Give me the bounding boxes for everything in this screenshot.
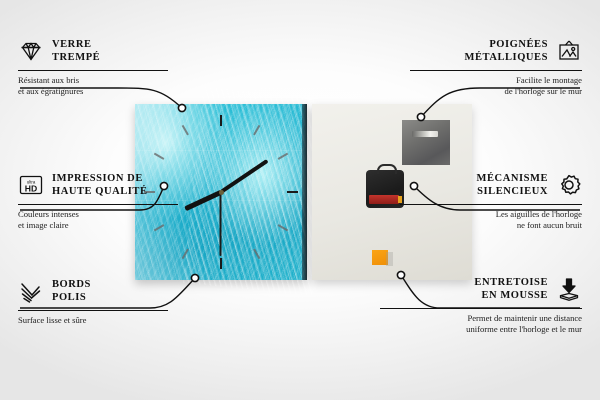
feature-header: ENTRETOISE EN MOUSSE <box>370 276 582 302</box>
feature-title: ENTRETOISE EN MOUSSE <box>474 276 548 302</box>
feature-title: BORDS POLIS <box>52 278 91 304</box>
hanging-frame-icon <box>556 38 582 64</box>
polished-edges-icon <box>18 278 44 304</box>
feature-title: MÉCANISME SILENCIEUX <box>477 172 548 198</box>
gear-icon <box>556 172 582 198</box>
feature-title: VERRE TREMPÉ <box>52 38 100 64</box>
feature-underline <box>18 204 178 205</box>
feature-description: Facilite le montage de l'horloge sur le … <box>400 75 582 97</box>
feature-mecanisme-silencieux: MÉCANISME SILENCIEUX Les aiguilles de l'… <box>390 172 582 231</box>
feature-header: VERRE TREMPÉ <box>18 38 178 64</box>
feature-title: POIGNÉES MÉTALLIQUES <box>465 38 548 64</box>
feature-description: Couleurs intenses et image claire <box>18 209 184 231</box>
feature-description: Résistant aux bris et aux égratignures <box>18 75 178 97</box>
hanger-slot <box>412 131 438 137</box>
feature-header: BORDS POLIS <box>18 278 178 304</box>
feature-header: MÉCANISME SILENCIEUX <box>390 172 582 198</box>
feature-underline <box>18 70 168 71</box>
feature-bords-polis: BORDS POLIS Surface lisse et sûre <box>18 278 178 326</box>
foam-spacer <box>372 250 388 265</box>
svg-text:HD: HD <box>25 183 37 193</box>
feature-description: Permet de maintenir une distance uniform… <box>370 313 582 335</box>
ultra-hd-icon: ultra HD <box>18 172 44 198</box>
glass-seam-top <box>135 150 302 151</box>
feature-title: IMPRESSION DE HAUTE QUALITÉ <box>52 172 148 198</box>
infographic-canvas: VERRE TREMPÉ Résistant aux bris et aux é… <box>0 0 600 400</box>
feature-header: ultra HD IMPRESSION DE HAUTE QUALITÉ <box>18 172 184 198</box>
metal-hanger-plate <box>402 120 450 165</box>
foam-spacer-arrow-icon <box>556 276 582 302</box>
feature-poignees-metalliques: POIGNÉES MÉTALLIQUES Facilite le montage… <box>400 38 582 97</box>
feature-description: Les aiguilles de l'horloge ne font aucun… <box>390 209 582 231</box>
feature-verre-trempe: VERRE TREMPÉ Résistant aux bris et aux é… <box>18 38 178 97</box>
feature-entretoise-en-mousse: ENTRETOISE EN MOUSSE Permet de maintenir… <box>370 276 582 335</box>
feature-description: Surface lisse et sûre <box>18 315 178 326</box>
feature-impression-haute-qualite: ultra HD IMPRESSION DE HAUTE QUALITÉ Cou… <box>18 172 184 231</box>
feature-header: POIGNÉES MÉTALLIQUES <box>400 38 582 64</box>
feature-underline <box>400 204 582 205</box>
diamond-icon <box>18 38 44 64</box>
feature-underline <box>18 310 168 311</box>
feature-underline <box>410 70 582 71</box>
feature-underline <box>380 308 582 309</box>
